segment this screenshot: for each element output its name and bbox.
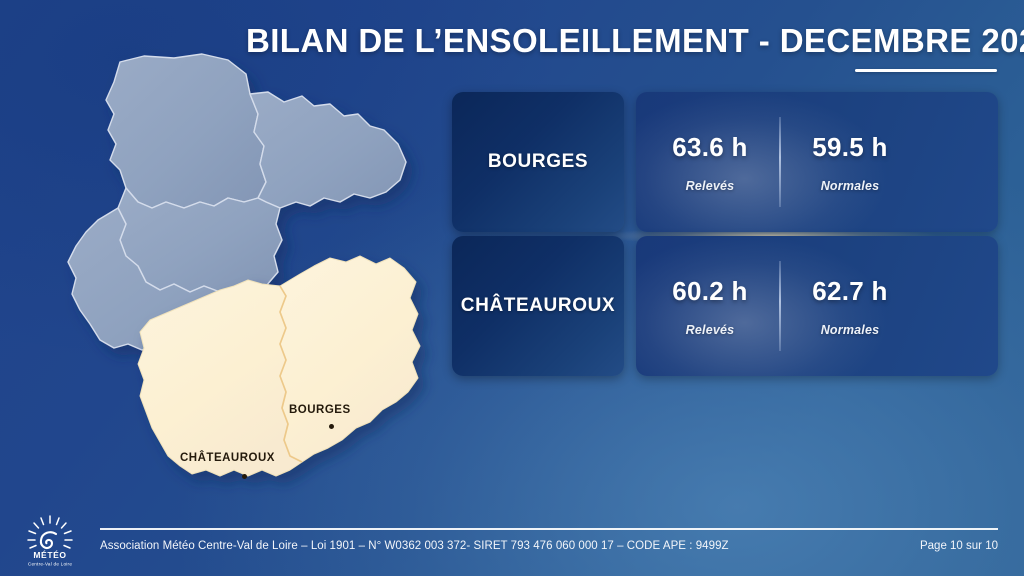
map-dept-eure-et-loir bbox=[106, 54, 266, 208]
values-card-chateauroux: 60.2 h Relevés 62.7 h Normales -4 % bbox=[636, 236, 998, 376]
map-city-dot-bourges bbox=[329, 424, 334, 429]
map-dept-loiret bbox=[250, 92, 406, 208]
metric-normales: 59.5 h Normales bbox=[786, 92, 914, 232]
footer-legal-text: Association Météo Centre-Val de Loire – … bbox=[100, 540, 729, 552]
meteo-logo[interactable]: MÉTÉO Centre-Val de Loire bbox=[20, 514, 92, 570]
metric-value: 59.5 h bbox=[812, 132, 888, 162]
city-card-name: BOURGES bbox=[488, 151, 588, 173]
city-card-bourges[interactable]: BOURGES bbox=[452, 92, 624, 232]
metric-value: 62.7 h bbox=[812, 276, 888, 306]
map-city-label-chateauroux: CHÂTEAUROUX bbox=[180, 452, 275, 464]
logo-subtitle: Centre-Val de Loire bbox=[28, 562, 72, 567]
sun-spiral-icon bbox=[41, 532, 56, 548]
values-card-bourges: 63.6 h Relevés 59.5 h Normales +7 % bbox=[636, 92, 998, 232]
metric-label: Normales bbox=[821, 179, 880, 193]
region-map: BOURGES CHÂTEAUROUX bbox=[14, 52, 444, 522]
city-card-name: CHÂTEAUROUX bbox=[461, 295, 615, 317]
metric-value: 60.2 h bbox=[672, 276, 748, 306]
footer-divider bbox=[100, 528, 998, 530]
metric-divider bbox=[779, 117, 781, 207]
metric-label: Relevés bbox=[686, 179, 735, 193]
metric-releves: 63.6 h Relevés bbox=[646, 92, 774, 232]
map-dept-cher bbox=[280, 256, 420, 462]
map-city-label-bourges: BOURGES bbox=[289, 404, 351, 416]
city-card-chateauroux[interactable]: CHÂTEAUROUX bbox=[452, 236, 624, 376]
metric-label: Relevés bbox=[686, 323, 735, 337]
metric-label: Normales bbox=[821, 323, 880, 337]
map-city-dot-chateauroux bbox=[242, 474, 247, 479]
metric-releves: 60.2 h Relevés bbox=[646, 236, 774, 376]
logo-name: MÉTÉO bbox=[33, 550, 66, 560]
metric-normales: 62.7 h Normales bbox=[786, 236, 914, 376]
title-underline bbox=[855, 69, 997, 72]
metric-value: 63.6 h bbox=[672, 132, 748, 162]
metric-divider bbox=[779, 261, 781, 351]
slide-root: BILAN DE L’ENSOLEILLEMENT - DECEMBRE 202… bbox=[0, 0, 1024, 576]
footer-page-number: Page 10 sur 10 bbox=[700, 540, 998, 552]
